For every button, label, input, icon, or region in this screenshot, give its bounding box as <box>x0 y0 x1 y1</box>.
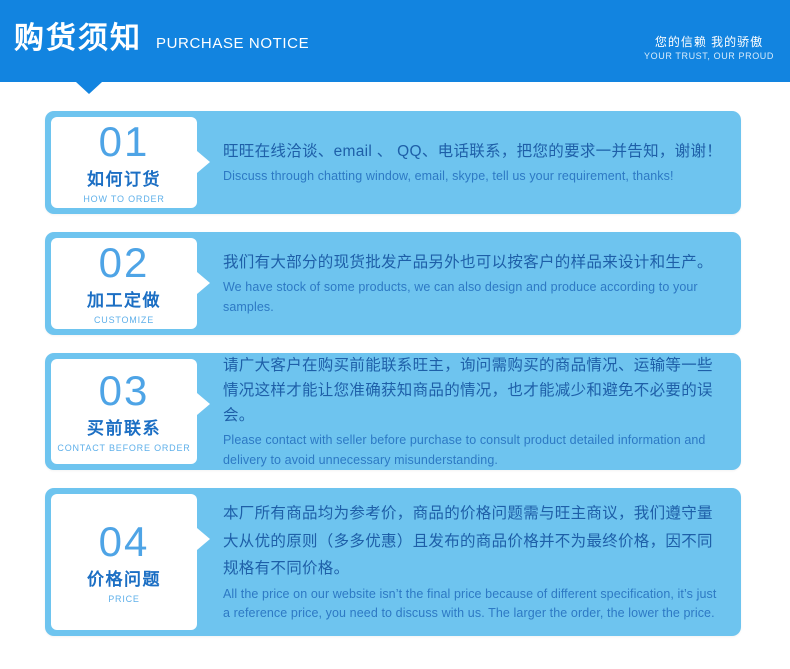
page-header-banner: 购货须知 PURCHASE NOTICE 您的信赖 我的骄傲 YOUR TRUS… <box>0 0 790 82</box>
notice-card-list: 01 如何订货 HOW TO ORDER 旺旺在线洽谈、email 、 QQ、电… <box>0 82 790 636</box>
card-body-cn: 我们有大部分的现货批发产品另外也可以按客户的样品来设计和生产。 <box>223 250 725 275</box>
card-body: 本厂所有商品均为参考价，商品的价格问题需与旺主商议，我们遵守量大从优的原则（多多… <box>197 488 741 636</box>
card-body-en: All the price on our website isn’t the f… <box>223 585 725 624</box>
card-body-cn: 本厂所有商品均为参考价，商品的价格问题需与旺主商议，我们遵守量大从优的原则（多多… <box>223 500 725 581</box>
page-title-cn: 购货须知 <box>14 24 142 54</box>
notice-card: 02 加工定做 CUSTOMIZE 我们有大部分的现货批发产品另外也可以按客户的… <box>45 232 741 335</box>
card-body: 请广大客户在购买前能联系旺主，询问需购买的商品情况、运输等一些情况这样才能让您准… <box>197 353 741 470</box>
card-label-en: PRICE <box>108 595 140 604</box>
slogan-en: YOUR TRUST, OUR PROUD <box>644 50 774 62</box>
card-body-en: We have stock of some products, we can a… <box>223 278 725 317</box>
card-body: 旺旺在线洽谈、email 、 QQ、电话联系，把您的要求一并告知，谢谢！ Dis… <box>197 111 741 214</box>
card-body-en: Discuss through chatting window, email, … <box>223 167 725 186</box>
page-title-en: PURCHASE NOTICE <box>156 36 309 51</box>
card-badge: 01 如何订货 HOW TO ORDER <box>51 117 197 208</box>
card-label-en: CUSTOMIZE <box>94 316 154 325</box>
card-body-cn: 旺旺在线洽谈、email 、 QQ、电话联系，把您的要求一并告知，谢谢！ <box>223 139 725 164</box>
card-number: 01 <box>99 121 150 163</box>
card-label-cn: 价格问题 <box>87 571 161 588</box>
card-number: 03 <box>99 370 150 412</box>
card-label-cn: 如何订货 <box>87 171 161 188</box>
header-slogan-group: 您的信赖 我的骄傲 YOUR TRUST, OUR PROUD <box>644 34 774 62</box>
slogan-cn: 您的信赖 我的骄傲 <box>644 34 774 50</box>
header-title-group: 购货须知 PURCHASE NOTICE <box>14 24 309 54</box>
card-badge: 03 买前联系 CONTACT BEFORE ORDER <box>51 359 197 464</box>
card-number: 02 <box>99 242 150 284</box>
card-label-cn: 加工定做 <box>87 292 161 309</box>
card-badge: 04 价格问题 PRICE <box>51 494 197 630</box>
notice-card: 04 价格问题 PRICE 本厂所有商品均为参考价，商品的价格问题需与旺主商议，… <box>45 488 741 636</box>
card-body-en: Please contact with seller before purcha… <box>223 431 725 470</box>
card-label-cn: 买前联系 <box>87 420 161 437</box>
card-body: 我们有大部分的现货批发产品另外也可以按客户的样品来设计和生产。 We have … <box>197 232 741 335</box>
card-label-en: HOW TO ORDER <box>83 195 164 204</box>
card-number: 04 <box>99 521 150 563</box>
notice-card: 01 如何订货 HOW TO ORDER 旺旺在线洽谈、email 、 QQ、电… <box>45 111 741 214</box>
notice-card: 03 买前联系 CONTACT BEFORE ORDER 请广大客户在购买前能联… <box>45 353 741 470</box>
card-label-en: CONTACT BEFORE ORDER <box>57 444 190 453</box>
card-badge: 02 加工定做 CUSTOMIZE <box>51 238 197 329</box>
card-body-cn: 请广大客户在购买前能联系旺主，询问需购买的商品情况、运输等一些情况这样才能让您准… <box>223 353 725 428</box>
